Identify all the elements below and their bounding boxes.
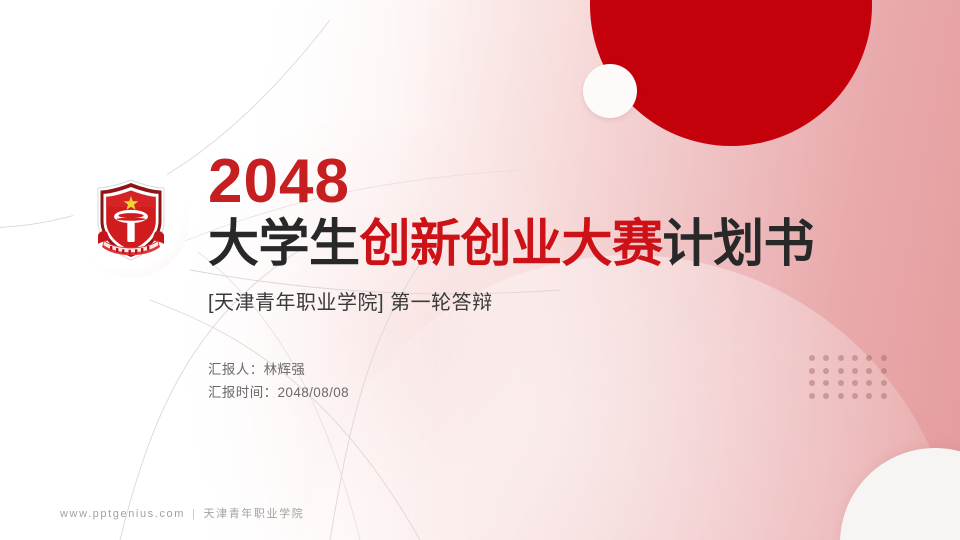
college-crest-icon bbox=[90, 177, 172, 263]
subtitle: [天津青年职业学院] 第一轮答辩 bbox=[208, 286, 848, 315]
presentation-slide: 2048 大学生创新创业大赛计划书 [天津青年职业学院] 第一轮答辩 汇报人：林… bbox=[0, 0, 960, 540]
footer-website[interactable]: www.pptgenius.com bbox=[60, 508, 185, 520]
title-text-block: 2048 大学生创新创业大赛计划书 [天津青年职业学院] 第一轮答辩 汇报人：林… bbox=[208, 150, 848, 404]
footer-separator: | bbox=[192, 508, 196, 520]
top-right-red-circle bbox=[590, 0, 872, 146]
small-white-circle bbox=[583, 64, 637, 118]
title-segment-dark-2: 计划书 bbox=[663, 215, 815, 272]
year-heading: 2048 bbox=[208, 150, 848, 213]
bottom-right-white-circle bbox=[840, 448, 960, 540]
presenter-line: 汇报人：林辉强 bbox=[208, 359, 848, 381]
title-segment-dark-1: 大学生 bbox=[208, 215, 360, 272]
footer: www.pptgenius.com|天津青年职业学院 bbox=[60, 505, 304, 521]
presentation-meta: 汇报人：林辉强 汇报时间：2048/08/08 bbox=[208, 359, 848, 404]
footer-institution: 天津青年职业学院 bbox=[204, 508, 305, 520]
college-logo bbox=[73, 162, 189, 278]
report-date-line: 汇报时间：2048/08/08 bbox=[208, 382, 848, 404]
title-segment-red: 创新创业大赛 bbox=[360, 215, 663, 272]
page-title: 大学生创新创业大赛计划书 bbox=[208, 215, 848, 272]
